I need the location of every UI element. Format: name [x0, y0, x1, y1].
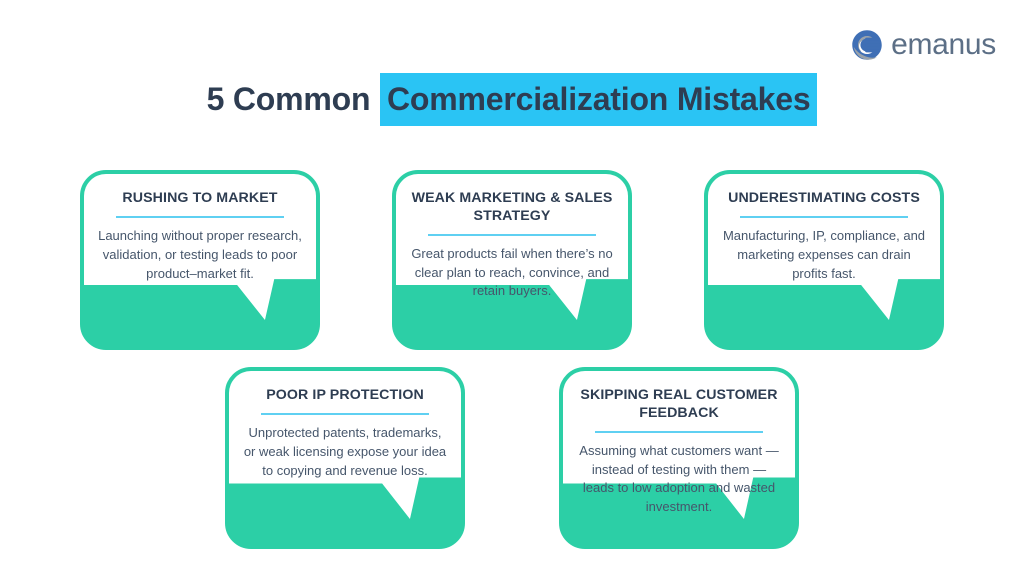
card-content: WEAK MARKETING & SALES STRATEGY Great pr…	[396, 174, 628, 320]
page-title-plain: 5 Common	[207, 81, 380, 117]
card-heading: RUSHING TO MARKET	[122, 190, 277, 208]
card-divider	[428, 234, 595, 236]
mistake-card: WEAK MARKETING & SALES STRATEGY Great pr…	[392, 170, 632, 350]
card-heading: UNDERESTIMATING COSTS	[728, 190, 920, 208]
mistake-card: POOR IP PROTECTION Unprotected patents, …	[225, 367, 465, 549]
card-divider	[116, 216, 283, 218]
card-body: Manufacturing, IP, compliance, and marke…	[722, 227, 926, 284]
card-body: Launching without proper research, valid…	[98, 227, 302, 284]
card-body: Great products fail when there’s no clea…	[410, 245, 614, 302]
card-divider	[595, 431, 762, 433]
card-content: SKIPPING REAL CUSTOMER FEEDBACK Assuming…	[563, 371, 795, 519]
card-row-bottom: POOR IP PROTECTION Unprotected patents, …	[0, 367, 1024, 549]
card-body: Assuming what customers want — instead o…	[577, 442, 781, 517]
card-content: UNDERESTIMATING COSTS Manufacturing, IP,…	[708, 174, 940, 320]
card-heading: WEAK MARKETING & SALES STRATEGY	[410, 190, 614, 226]
card-divider	[740, 216, 907, 218]
card-body: Unprotected patents, trademarks, or weak…	[243, 424, 447, 481]
card-content: RUSHING TO MARKET Launching without prop…	[84, 174, 316, 320]
brand-logo: emanus	[848, 26, 996, 64]
card-divider	[261, 413, 428, 415]
page-title: 5 Common Commercialization Mistakes	[0, 81, 1024, 118]
card-row-top: RUSHING TO MARKET Launching without prop…	[0, 170, 1024, 350]
brand-wordmark: emanus	[891, 30, 996, 60]
mistake-card: SKIPPING REAL CUSTOMER FEEDBACK Assuming…	[559, 367, 799, 549]
card-content: POOR IP PROTECTION Unprotected patents, …	[229, 371, 461, 519]
emanus-e-icon	[848, 26, 886, 64]
card-heading: SKIPPING REAL CUSTOMER FEEDBACK	[577, 387, 781, 423]
card-heading: POOR IP PROTECTION	[266, 387, 424, 405]
page-title-highlight: Commercialization Mistakes	[380, 73, 817, 126]
mistake-card: UNDERESTIMATING COSTS Manufacturing, IP,…	[704, 170, 944, 350]
mistake-card: RUSHING TO MARKET Launching without prop…	[80, 170, 320, 350]
